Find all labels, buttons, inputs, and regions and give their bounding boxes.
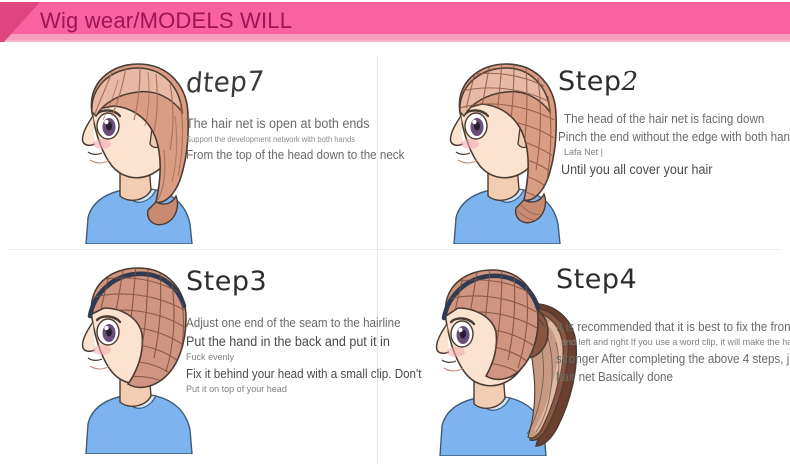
step-3-line-3: Fuck evenly (186, 351, 376, 365)
steps-grid: dtep7 The hair net is open at both ends … (0, 46, 790, 473)
step-4-line-4: hair net Basically done (556, 368, 775, 386)
step-2-heading-word: Step (558, 66, 621, 97)
step-2-text-block: Step2 The head of the hair net is facing… (558, 66, 788, 179)
step-3-line-2: Put the hand in the back and put it in (186, 332, 372, 351)
step-4-heading: Step4 (556, 264, 790, 296)
step-2-line-3: Lafa Net | (564, 146, 777, 160)
page-title: Wig wear/MODELS WILL (40, 6, 292, 36)
step-1-line-3: From the top of the head down to the nec… (186, 146, 363, 164)
step-1-illustration (52, 54, 202, 244)
step-2-heading: Step2 (558, 66, 788, 98)
step-4-line-2: and left and right If you use a word cli… (561, 336, 780, 350)
step-2-illustration (420, 54, 570, 244)
step-2-line-2: Pinch the end without the edge with both… (558, 128, 772, 146)
step-3-line-1: Adjust one end of the seam to the hairli… (186, 314, 372, 332)
step-4-line-3: stronger After completing the above 4 st… (556, 350, 775, 368)
step-2-line-1: The head of the hair net is facing down (564, 110, 772, 128)
step-2-heading-number: 2 (621, 67, 638, 97)
step-3-illustration (52, 254, 202, 454)
step-1-heading: dtep7 (185, 62, 378, 101)
step-3-text-block: Step3 Adjust one end of the seam to the … (186, 266, 386, 397)
step-2-line-4: Until you all cover your hair (561, 160, 772, 179)
step-panel-2: Step2 The head of the hair net is facing… (378, 46, 790, 249)
step-1-line-1: The hair net is open at both ends (186, 114, 363, 133)
step-1-line-2: Support the development network with bot… (186, 133, 367, 146)
step-3-line-5: Put it on top of your head (186, 383, 376, 397)
page-header-banner: Wig wear/MODELS WILL (0, 0, 790, 46)
step-3-line-4: Fix it behind your head with a small cli… (186, 365, 372, 383)
step-3-heading: Step3 (186, 266, 386, 298)
instruction-page: Wig wear/MODELS WILL (0, 0, 790, 473)
step-panel-1: dtep7 The hair net is open at both ends … (0, 46, 377, 249)
step-4-text-block: Step4 It is recommended that it is best … (556, 264, 790, 386)
step-1-text-block: dtep7 The hair net is open at both ends … (186, 68, 376, 164)
step-4-line-1: It is recommended that it is best to fix… (556, 318, 775, 336)
step-panel-3: Step3 Adjust one end of the seam to the … (0, 250, 377, 473)
step-panel-4: Step4 It is recommended that it is best … (378, 250, 790, 473)
